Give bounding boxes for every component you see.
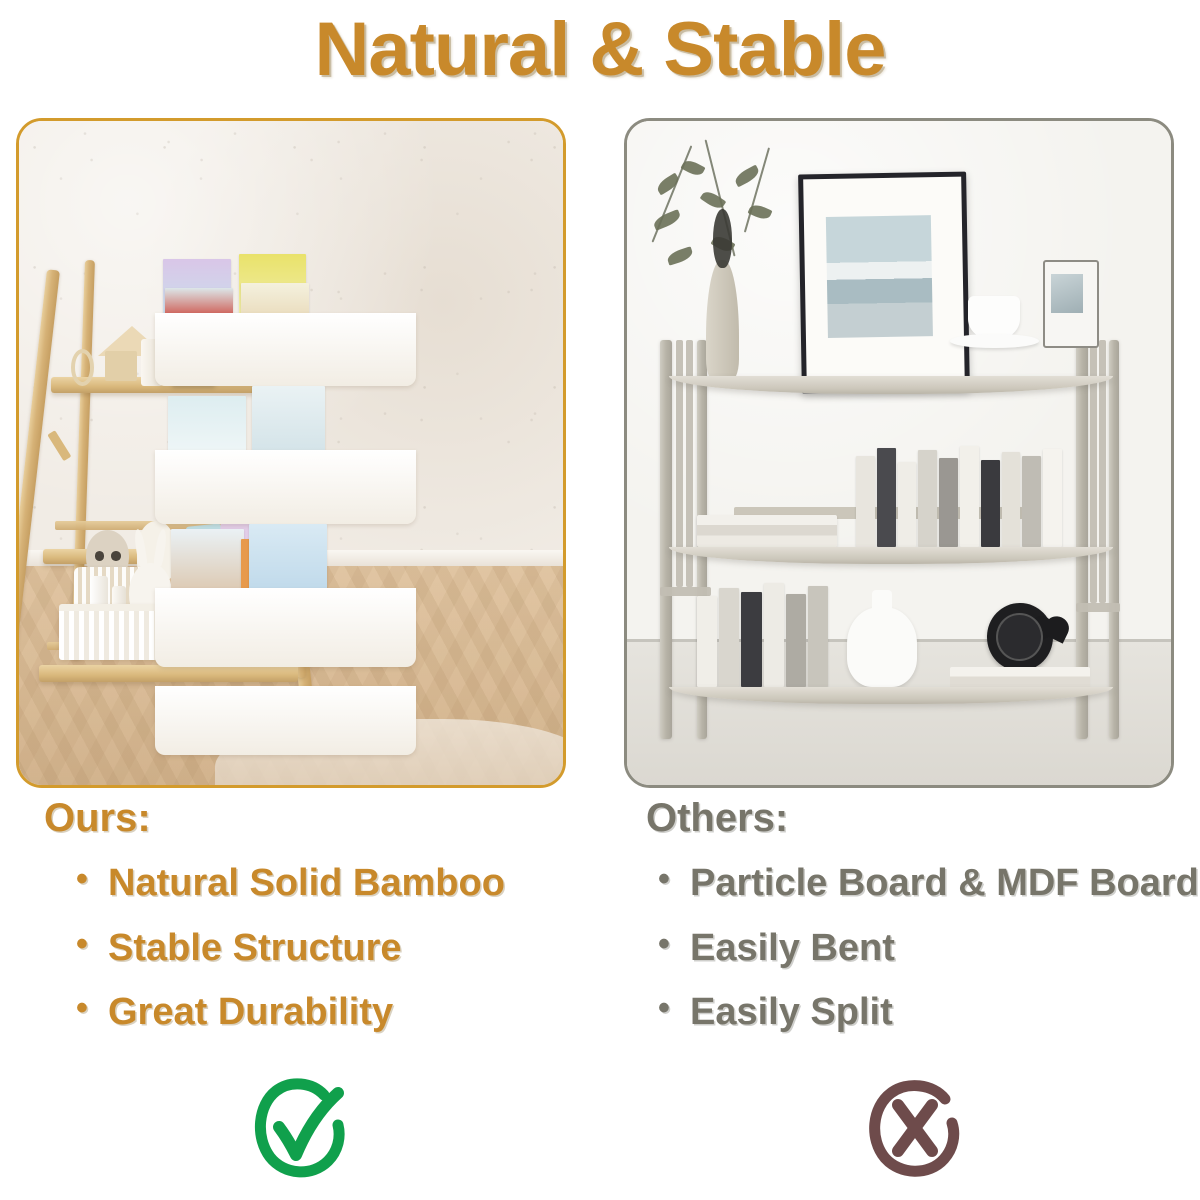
stacked-books: [697, 515, 837, 547]
book: [741, 592, 761, 687]
childrens-book: [252, 386, 325, 455]
shelf-board: [669, 547, 1113, 564]
toy-house-body: [105, 351, 137, 381]
fabric-book-sling: [155, 254, 416, 745]
others-feature-item: Easily Bent: [656, 927, 1191, 970]
branch-stem: [744, 148, 770, 233]
product-photo-ours: [16, 118, 566, 788]
check-circle-icon: [238, 1069, 362, 1187]
shelf-brace: [47, 430, 71, 461]
shelf-board: [669, 376, 1113, 394]
book-row: [697, 579, 828, 687]
leaf: [651, 209, 681, 230]
book: [939, 458, 958, 547]
shelf-post: [1109, 340, 1119, 738]
ceramic-figurine: [847, 607, 917, 687]
black-alarm-clock: [987, 603, 1052, 671]
desk-lamp: [1043, 260, 1099, 348]
others-feature-item: Particle Board & MDF Board: [656, 862, 1191, 905]
shelf-slat: [1076, 603, 1120, 612]
others-column: Others: Particle Board & MDF Board Easil…: [646, 796, 1191, 1056]
art-print-image: [826, 215, 933, 338]
toy-house: [98, 326, 145, 382]
book: [764, 583, 784, 686]
book: [1002, 452, 1021, 547]
leaf: [666, 246, 694, 265]
ours-feature-item: Stable Structure: [74, 927, 584, 970]
white-storage-basket: [59, 604, 161, 660]
childrens-book: [171, 529, 244, 593]
ours-verdict: [238, 1069, 362, 1192]
book: [1043, 449, 1062, 547]
sling-pocket: [155, 588, 416, 667]
book: [856, 456, 875, 547]
book: [697, 596, 717, 686]
dried-flower: [713, 209, 732, 269]
others-verdict: [853, 1069, 977, 1192]
book: [719, 588, 739, 687]
leaf: [655, 173, 682, 196]
book: [918, 450, 937, 547]
sling-pocket: [155, 450, 416, 524]
leaf: [681, 158, 706, 179]
sling-pocket: [155, 686, 416, 755]
shelf-board: [669, 687, 1113, 705]
ours-feature-item: Natural Solid Bamboo: [74, 862, 584, 905]
photo-others-content: [627, 121, 1171, 785]
ours-column: Ours: Natural Solid Bamboo Stable Struct…: [44, 796, 584, 1056]
shelf-post: [660, 340, 672, 738]
ours-feature-item: Great Durability: [74, 991, 584, 1034]
book: [898, 462, 917, 547]
book-row: [856, 444, 1062, 548]
leaf: [747, 202, 772, 222]
childrens-book: [249, 524, 327, 593]
book: [808, 586, 828, 687]
others-feature-item: Easily Split: [656, 991, 1191, 1034]
sling-pocket: [155, 313, 416, 387]
framed-art-print: [798, 171, 970, 393]
page-title: Natural & Stable: [0, 10, 1200, 90]
title-bar: Natural & Stable: [0, 10, 1200, 90]
book: [981, 460, 1000, 547]
toy-ring: [71, 349, 95, 386]
others-heading: Others:: [646, 796, 1191, 840]
cross-circle-icon: [853, 1069, 977, 1187]
ours-heading: Ours:: [44, 796, 584, 840]
childrens-book: [168, 396, 246, 455]
others-feature-list: Particle Board & MDF Board Easily Bent E…: [646, 862, 1191, 1034]
book: [786, 594, 806, 687]
book: [960, 446, 979, 548]
book: [877, 448, 896, 547]
photo-ours-content: [19, 121, 563, 785]
ours-feature-list: Natural Solid Bamboo Stable Structure Gr…: [44, 862, 584, 1034]
book: [1022, 456, 1041, 547]
product-photo-others: [624, 118, 1174, 788]
gray-particle-board-shelf: [660, 340, 1128, 738]
